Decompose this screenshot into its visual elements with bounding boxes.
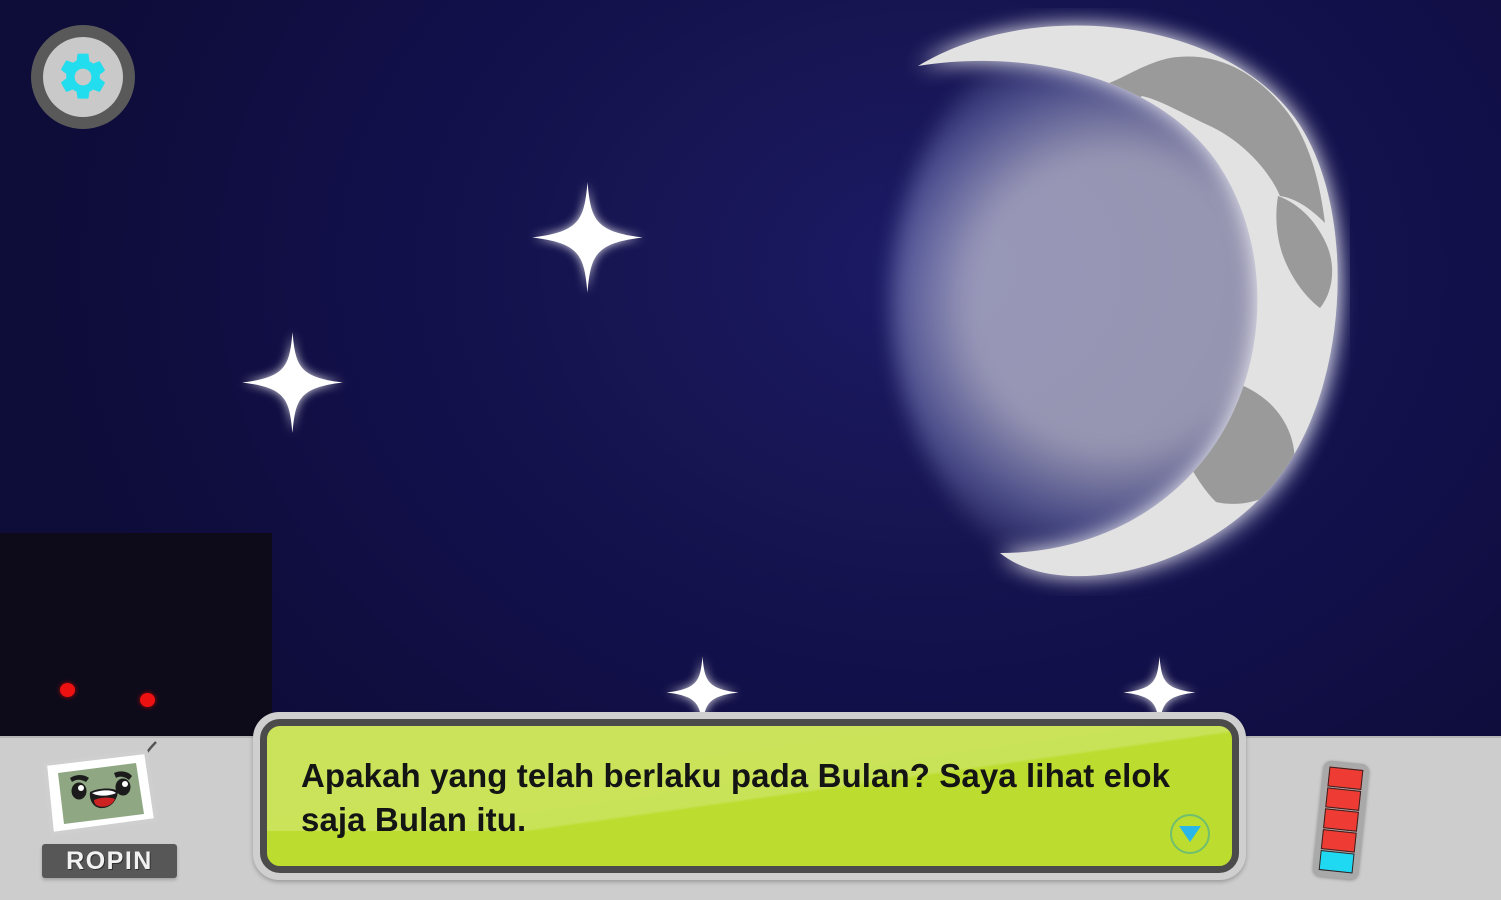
meter-segment-1 (1327, 767, 1363, 790)
meter-segment-2 (1325, 787, 1361, 810)
meter-segment-4 (1321, 829, 1357, 852)
meter-segment-5 (1319, 850, 1355, 873)
dark-structure (0, 533, 272, 738)
settings-button[interactable] (31, 25, 135, 129)
dialogue-text: Apakah yang telah berlaku pada Bulan? Sa… (267, 726, 1232, 841)
crescent-moon (880, 8, 1350, 596)
character-name: ROPIN (66, 847, 153, 876)
red-light-left (60, 683, 75, 697)
red-light-right (140, 693, 155, 707)
game-screen: ROPIN Apakah yang telah berlaku pada Bul… (0, 0, 1501, 900)
advance-dialogue-icon[interactable] (1170, 814, 1210, 854)
dialogue-box[interactable]: Apakah yang telah berlaku pada Bulan? Sa… (253, 712, 1246, 880)
meter-segment-3 (1323, 808, 1359, 831)
moon-shape-icon (880, 8, 1350, 596)
robot-tv-face-icon (18, 740, 188, 845)
chevron-down-triangle (1179, 826, 1201, 842)
character-portrait[interactable]: ROPIN (18, 740, 188, 890)
dialogue-inner-panel: Apakah yang telah berlaku pada Bulan? Sa… (260, 719, 1239, 873)
settings-button-disc (43, 37, 123, 117)
gear-icon (55, 49, 111, 105)
character-name-plate: ROPIN (42, 844, 177, 878)
